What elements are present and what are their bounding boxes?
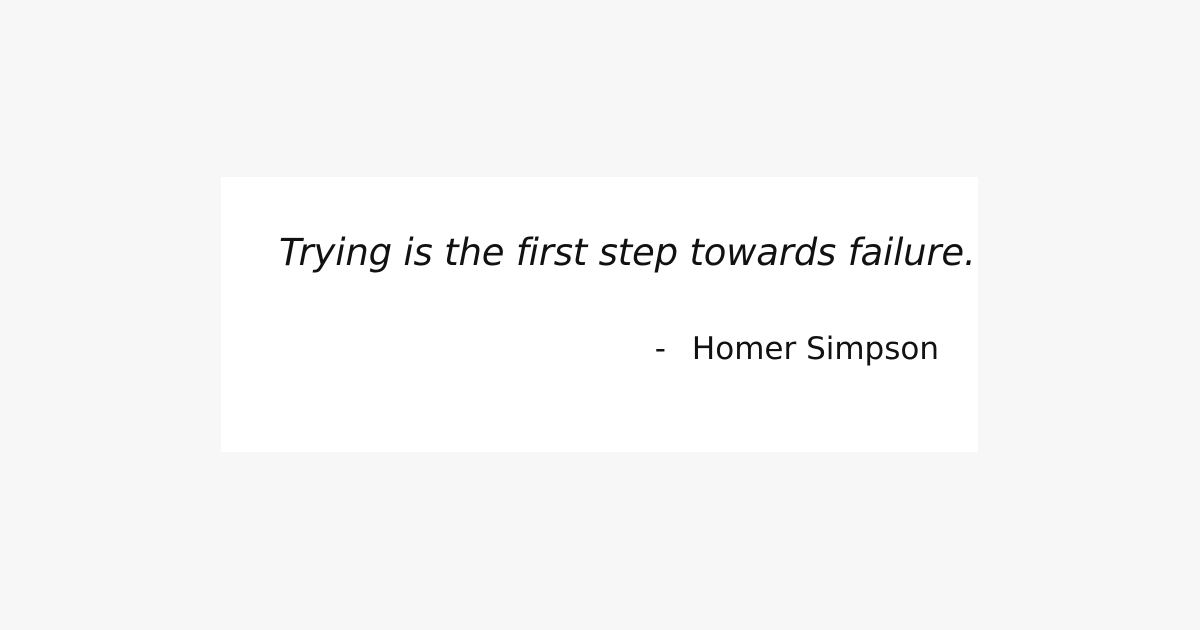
- quote-attribution: -Homer Simpson: [279, 329, 939, 369]
- quote-image-canvas: Trying is the first step towards failure…: [0, 0, 1200, 630]
- quote-card: Trying is the first step towards failure…: [221, 177, 978, 452]
- quote-text: Trying is the first step towards failure…: [279, 231, 939, 275]
- attribution-dash: -: [655, 329, 666, 369]
- attribution-author: Homer Simpson: [692, 329, 939, 369]
